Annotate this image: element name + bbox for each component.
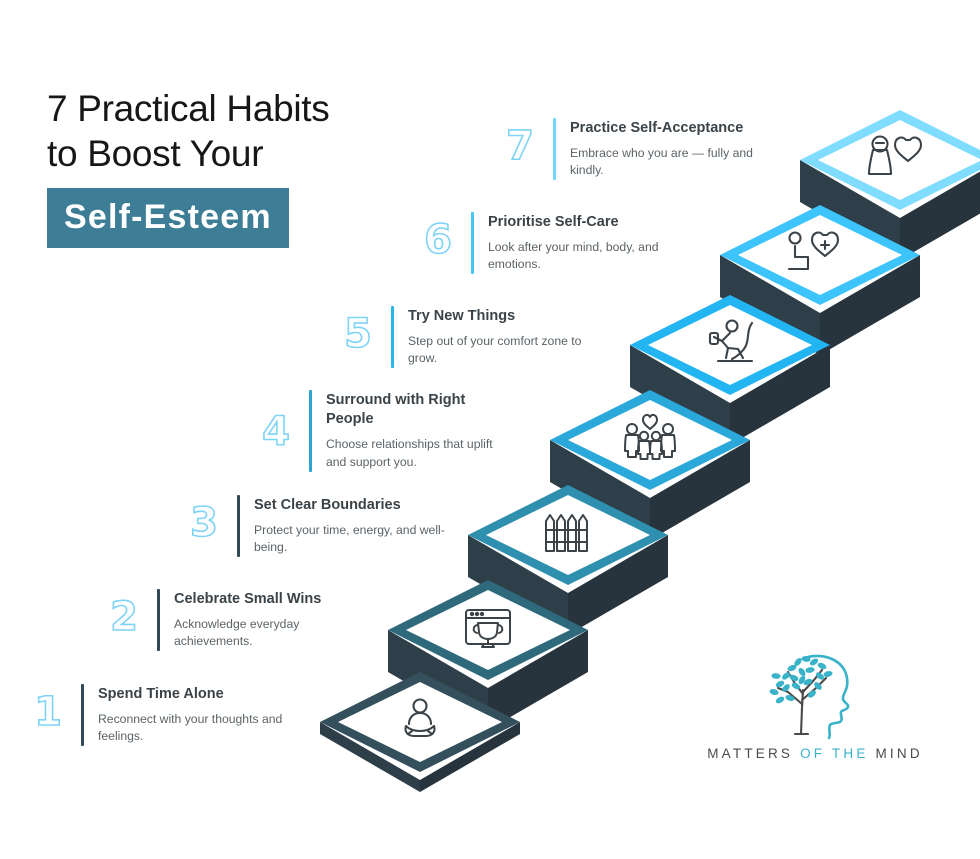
step-number-2: 2 xyxy=(101,589,147,637)
step-rule-3 xyxy=(237,495,240,557)
step-desc-7: Embrace who you are — fully and kindly. xyxy=(570,145,770,180)
step-number-3: 3 xyxy=(181,495,227,543)
step-title-5: Try New Things xyxy=(408,307,603,326)
step-item-3: 3 Set Clear Boundaries Protect your time… xyxy=(181,495,481,557)
step-desc-2: Acknowledge everyday achievements. xyxy=(174,616,334,651)
step-number-1: 1 xyxy=(25,684,71,732)
step-title-6: Prioritise Self-Care xyxy=(488,213,681,232)
step-item-4: 4 Surround with Right People Choose rela… xyxy=(253,390,553,472)
step-item-1: 1 Spend Time Alone Reconnect with your t… xyxy=(25,684,325,746)
title-line-1: 7 Practical Habits xyxy=(47,86,427,131)
logo-word-matters: MATTERS xyxy=(707,746,800,761)
step-number-5: 5 xyxy=(335,306,381,354)
step-rule-4 xyxy=(309,390,312,472)
step-desc-5: Step out of your comfort zone to grow. xyxy=(408,333,603,368)
step-desc-3: Protect your time, energy, and well-bein… xyxy=(254,522,459,557)
step-title-3: Set Clear Boundaries xyxy=(254,496,459,515)
step-rule-5 xyxy=(391,306,394,368)
badge-label: Self-Esteem xyxy=(64,198,272,236)
step-desc-1: Reconnect with your thoughts and feeling… xyxy=(98,711,298,746)
logo-wordmark: MATTERS OF THE MIND xyxy=(690,746,940,761)
step-title-4: Surround with Right People xyxy=(326,391,501,429)
title-line-2: to Boost Your xyxy=(47,131,427,176)
step-number-6: 6 xyxy=(415,212,461,260)
step-item-2: 2 Celebrate Small Wins Acknowledge every… xyxy=(101,589,401,651)
step-item-6: 6 Prioritise Self-Care Look after your m… xyxy=(415,212,715,274)
page-title: 7 Practical Habits to Boost Your Self-Es… xyxy=(47,86,427,248)
step-rule-7 xyxy=(553,118,556,180)
step-desc-4: Choose relationships that uplift and sup… xyxy=(326,436,514,471)
step-number-7: 7 xyxy=(497,118,543,166)
tree-head-profile-logo xyxy=(746,648,881,740)
step-desc-6: Look after your mind, body, and emotions… xyxy=(488,239,681,274)
step-title-7: Practice Self-Acceptance xyxy=(570,119,770,138)
logo-word-mind: MIND xyxy=(875,746,922,761)
step-title-1: Spend Time Alone xyxy=(98,685,298,704)
step-title-2: Celebrate Small Wins xyxy=(174,590,334,609)
self-esteem-badge: Self-Esteem xyxy=(47,188,289,248)
brand-logo: MATTERS OF THE MIND xyxy=(690,648,940,773)
step-item-7: 7 Practice Self-Acceptance Embrace who y… xyxy=(497,118,797,180)
step-rule-6 xyxy=(471,212,474,274)
logo-word-of-the: OF THE xyxy=(800,746,875,761)
step-rule-1 xyxy=(81,684,84,746)
step-number-4: 4 xyxy=(253,390,299,452)
step-item-5: 5 Try New Things Step out of your comfor… xyxy=(335,306,635,368)
step-rule-2 xyxy=(157,589,160,651)
